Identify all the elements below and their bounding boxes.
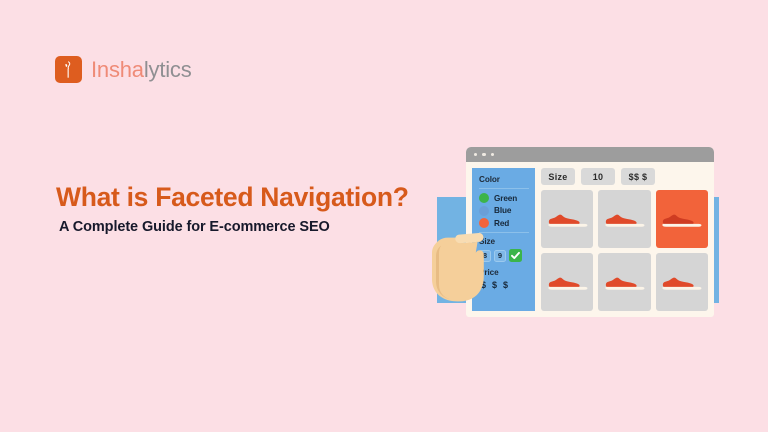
- check-icon[interactable]: [509, 249, 522, 262]
- results-area: Size 10 $$ $: [541, 168, 708, 311]
- inshalytics-logo-mark-icon: [55, 56, 82, 83]
- product-tile[interactable]: [598, 253, 650, 311]
- brand-logo[interactable]: Inshalytics: [55, 56, 192, 83]
- facet-option-label: Blue: [494, 206, 511, 215]
- product-tile[interactable]: [541, 253, 593, 311]
- window-dot-close-icon[interactable]: [474, 153, 477, 156]
- product-tile-selected[interactable]: [656, 190, 708, 248]
- facet-option-label: Green: [494, 194, 517, 203]
- brand-name-part-1: Insha: [91, 57, 144, 82]
- color-swatch-blue-icon: [479, 206, 489, 216]
- facet-option-color-green[interactable]: Green: [479, 193, 529, 203]
- filter-chip-price[interactable]: $$ $: [621, 168, 655, 185]
- product-tile[interactable]: [598, 190, 650, 248]
- color-swatch-green-icon: [479, 193, 489, 203]
- facet-option-color-blue[interactable]: Blue: [479, 206, 529, 216]
- brand-name-part-2: lytics: [144, 57, 192, 82]
- active-filter-chips: Size 10 $$ $: [541, 168, 708, 185]
- browser-titlebar: [466, 147, 714, 162]
- faceted-navigation-illustration: Color Green Blue Red Size 8: [430, 134, 730, 319]
- window-dot-maximize-icon[interactable]: [491, 153, 494, 156]
- pointing-hand-icon: [430, 220, 504, 306]
- page-subtitle: A Complete Guide for E-commerce SEO: [59, 219, 409, 235]
- filter-chip-size[interactable]: Size: [541, 168, 575, 185]
- hero-text-block: What is Faceted Navigation? A Complete G…: [56, 183, 409, 235]
- window-dot-minimize-icon[interactable]: [482, 153, 485, 156]
- filter-chip-number[interactable]: 10: [581, 168, 615, 185]
- facet-divider: [479, 188, 529, 189]
- page-title: What is Faceted Navigation?: [56, 183, 409, 213]
- product-tile[interactable]: [541, 190, 593, 248]
- brand-wordmark: Inshalytics: [91, 59, 192, 81]
- slide-canvas: { "background_color": "#fcdfe5", "brand"…: [0, 0, 768, 432]
- product-tile[interactable]: [656, 253, 708, 311]
- product-grid: [541, 190, 708, 311]
- facet-group-title-color: Color: [479, 175, 529, 184]
